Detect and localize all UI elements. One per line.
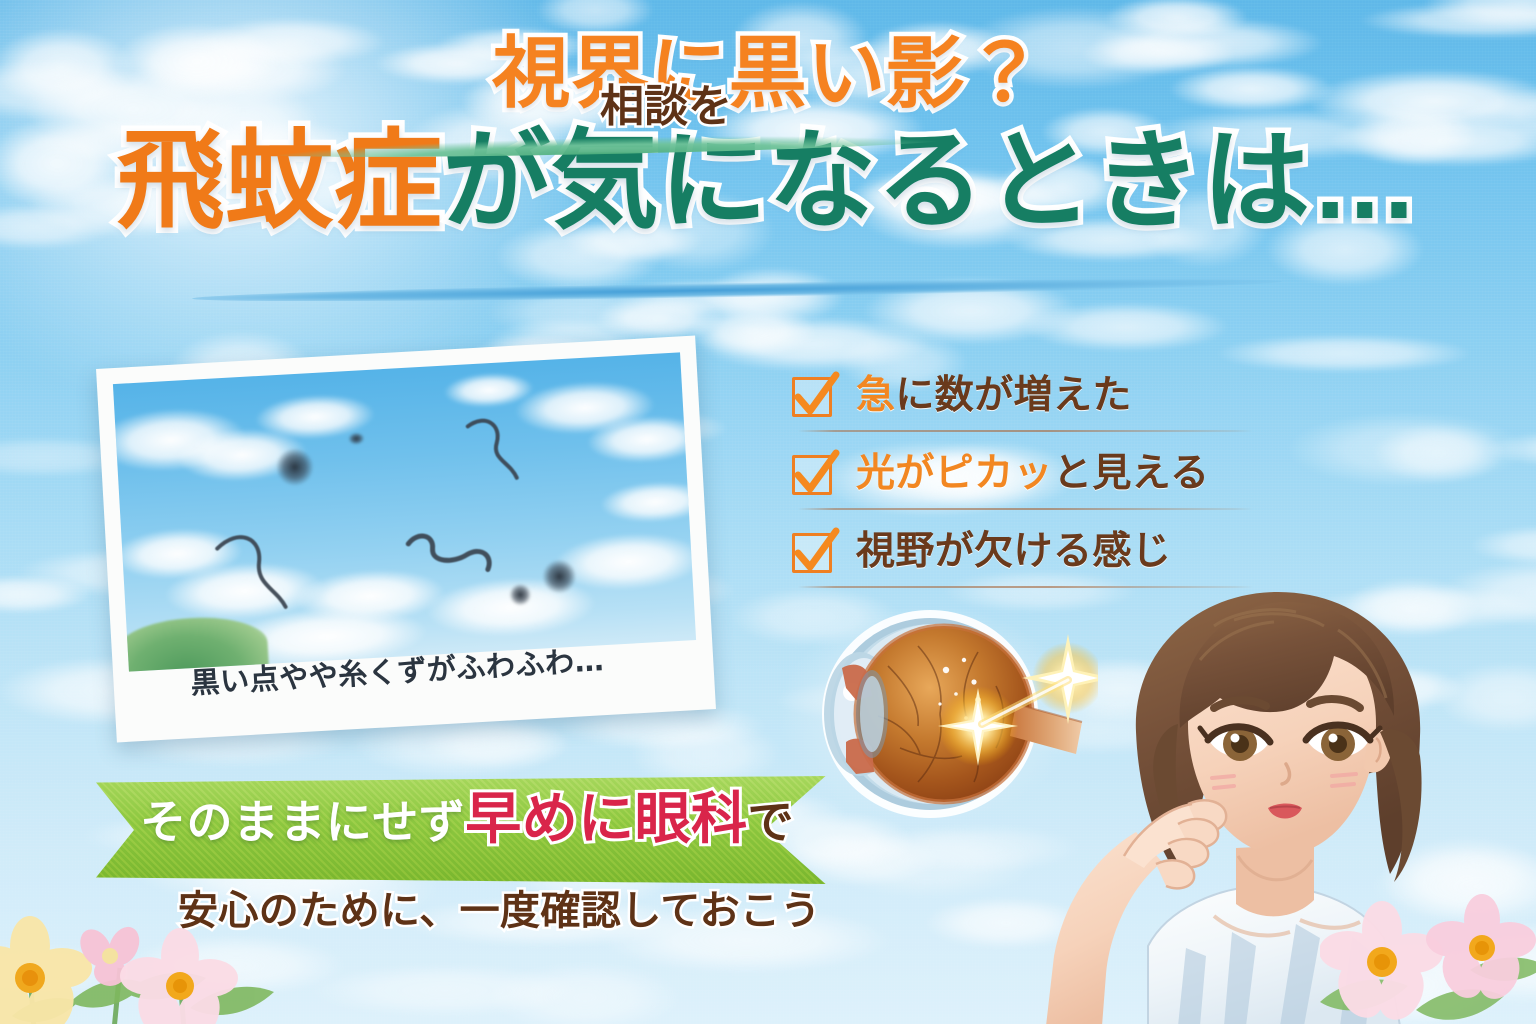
title-keyword-hiboushou: 飛蚊症 (117, 120, 443, 241)
cta-ribbon: そのままにせず早めに眼科で (96, 776, 856, 884)
checkbox-checked-icon[interactable] (790, 527, 838, 575)
ribbon-emphasis: 早めに眼科 (465, 787, 747, 852)
checklist-item-1[interactable]: 急に数が増えた (790, 356, 1260, 434)
floaters-photo (113, 352, 696, 671)
checkbox-checked-icon[interactable] (790, 371, 838, 419)
symptom-checklist: 急に数が増えた 光がピカッと見える 視野が欠ける感じ (790, 356, 1260, 590)
ribbon-lead: そのままにせず (140, 795, 465, 849)
ribbon-tail: で (748, 795, 794, 849)
infographic-canvas: 視界に黒い影？ 飛蚊症が気になるときは… (0, 0, 1536, 1024)
floaters-photo-card: 黒い点やや糸くずがふわふわ… (96, 336, 716, 743)
title-line-1: 視界に黒い影？ (492, 34, 1043, 112)
checklist-item-1-label: 急に数が増えた (856, 376, 1132, 415)
flowers-left-decoration (0, 880, 394, 1024)
checkbox-checked-icon[interactable] (790, 449, 838, 497)
flowers-right-decoration (1320, 892, 1536, 1024)
floater-squiggles (113, 352, 696, 671)
ribbon-second-line: 相談を (600, 70, 732, 134)
checklist-item-2-label: 光がピカッと見える (856, 454, 1209, 493)
ribbon-main-text: そのままにせず早めに眼科で (140, 792, 830, 848)
checklist-item-2[interactable]: 光がピカッと見える (790, 434, 1260, 512)
